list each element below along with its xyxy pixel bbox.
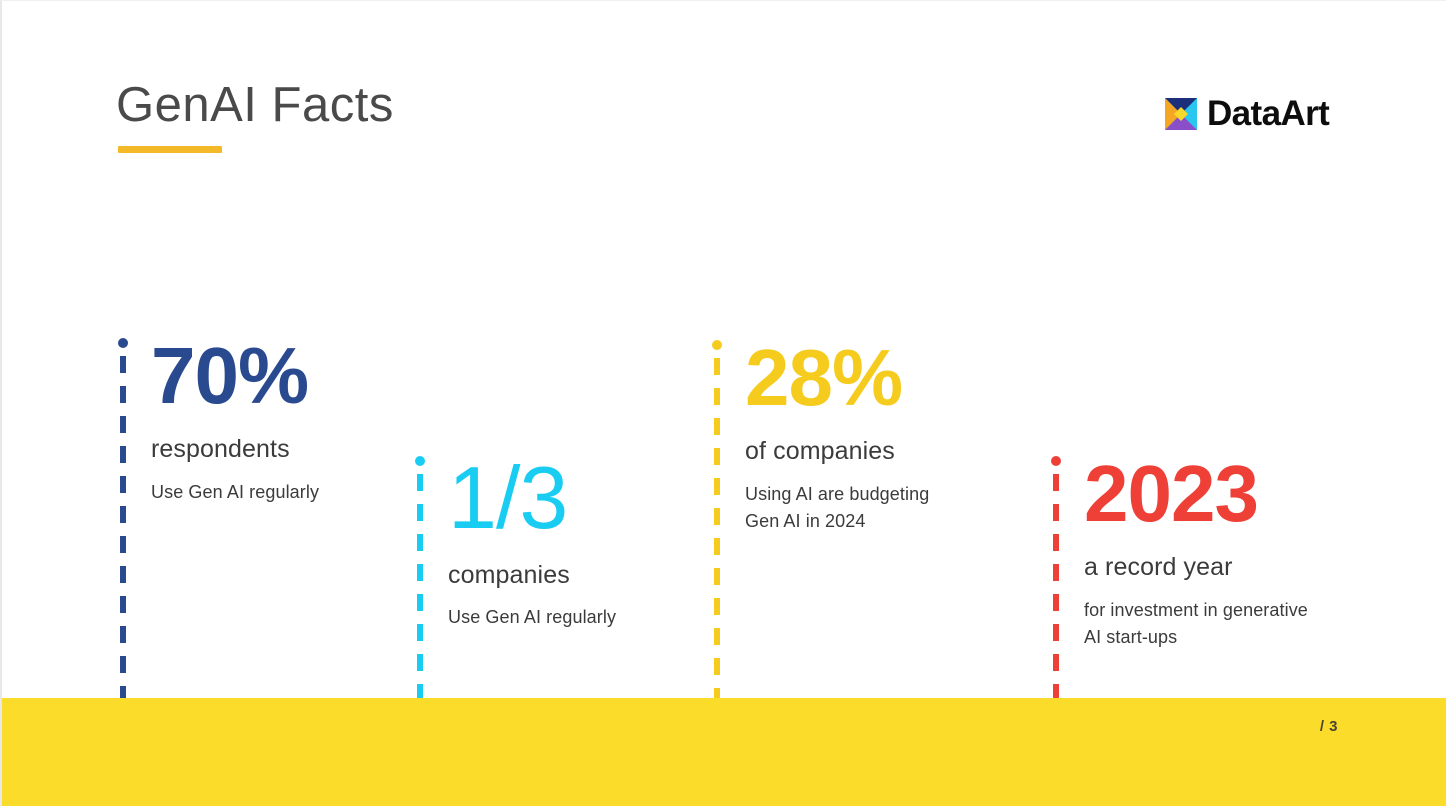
stat-marker-dot xyxy=(415,456,425,466)
page-title: GenAI Facts xyxy=(116,79,394,133)
stat-marker-dot xyxy=(118,338,128,348)
slide-canvas: GenAI Facts DataArt 70% respondents Use … xyxy=(0,0,1446,806)
dataart-logo-text: DataArt xyxy=(1207,96,1329,131)
title-underline-accent xyxy=(118,146,222,153)
stat-value: 1/3 xyxy=(448,456,616,540)
dataart-logo: DataArt xyxy=(1165,96,1329,131)
stat-description: Use Gen AI regularly xyxy=(151,479,319,506)
stat-dashed-line xyxy=(714,358,720,699)
stat-label: respondents xyxy=(151,435,319,464)
stat-description: Use Gen AI regularly xyxy=(448,604,616,631)
stat-dashed-line xyxy=(120,356,126,699)
stat-marker-dot xyxy=(712,340,722,350)
stat-content: 28% of companies Using AI are budgeting … xyxy=(745,340,929,535)
stat-dashed-line xyxy=(1053,474,1059,702)
stat-content: 1/3 companies Use Gen AI regularly xyxy=(448,456,616,631)
stat-value: 28% xyxy=(745,340,929,416)
stat-value: 70% xyxy=(151,338,319,414)
stat-dashed-line xyxy=(417,474,423,702)
page-indicator: / 3 xyxy=(1320,718,1338,735)
stat-label: of companies xyxy=(745,437,929,466)
stat-value: 2023 xyxy=(1084,456,1308,532)
stat-content: 2023 a record year for investment in gen… xyxy=(1084,456,1308,651)
stat-label: a record year xyxy=(1084,553,1308,582)
stat-label: companies xyxy=(448,561,616,590)
stat-content: 70% respondents Use Gen AI regularly xyxy=(151,338,319,506)
footer-band: / 3 xyxy=(2,698,1446,806)
stat-description: Using AI are budgeting Gen AI in 2024 xyxy=(745,481,929,535)
dataart-logo-mark-icon xyxy=(1165,98,1197,130)
stat-marker-dot xyxy=(1051,456,1061,466)
stat-description: for investment in generative AI start-up… xyxy=(1084,597,1308,651)
